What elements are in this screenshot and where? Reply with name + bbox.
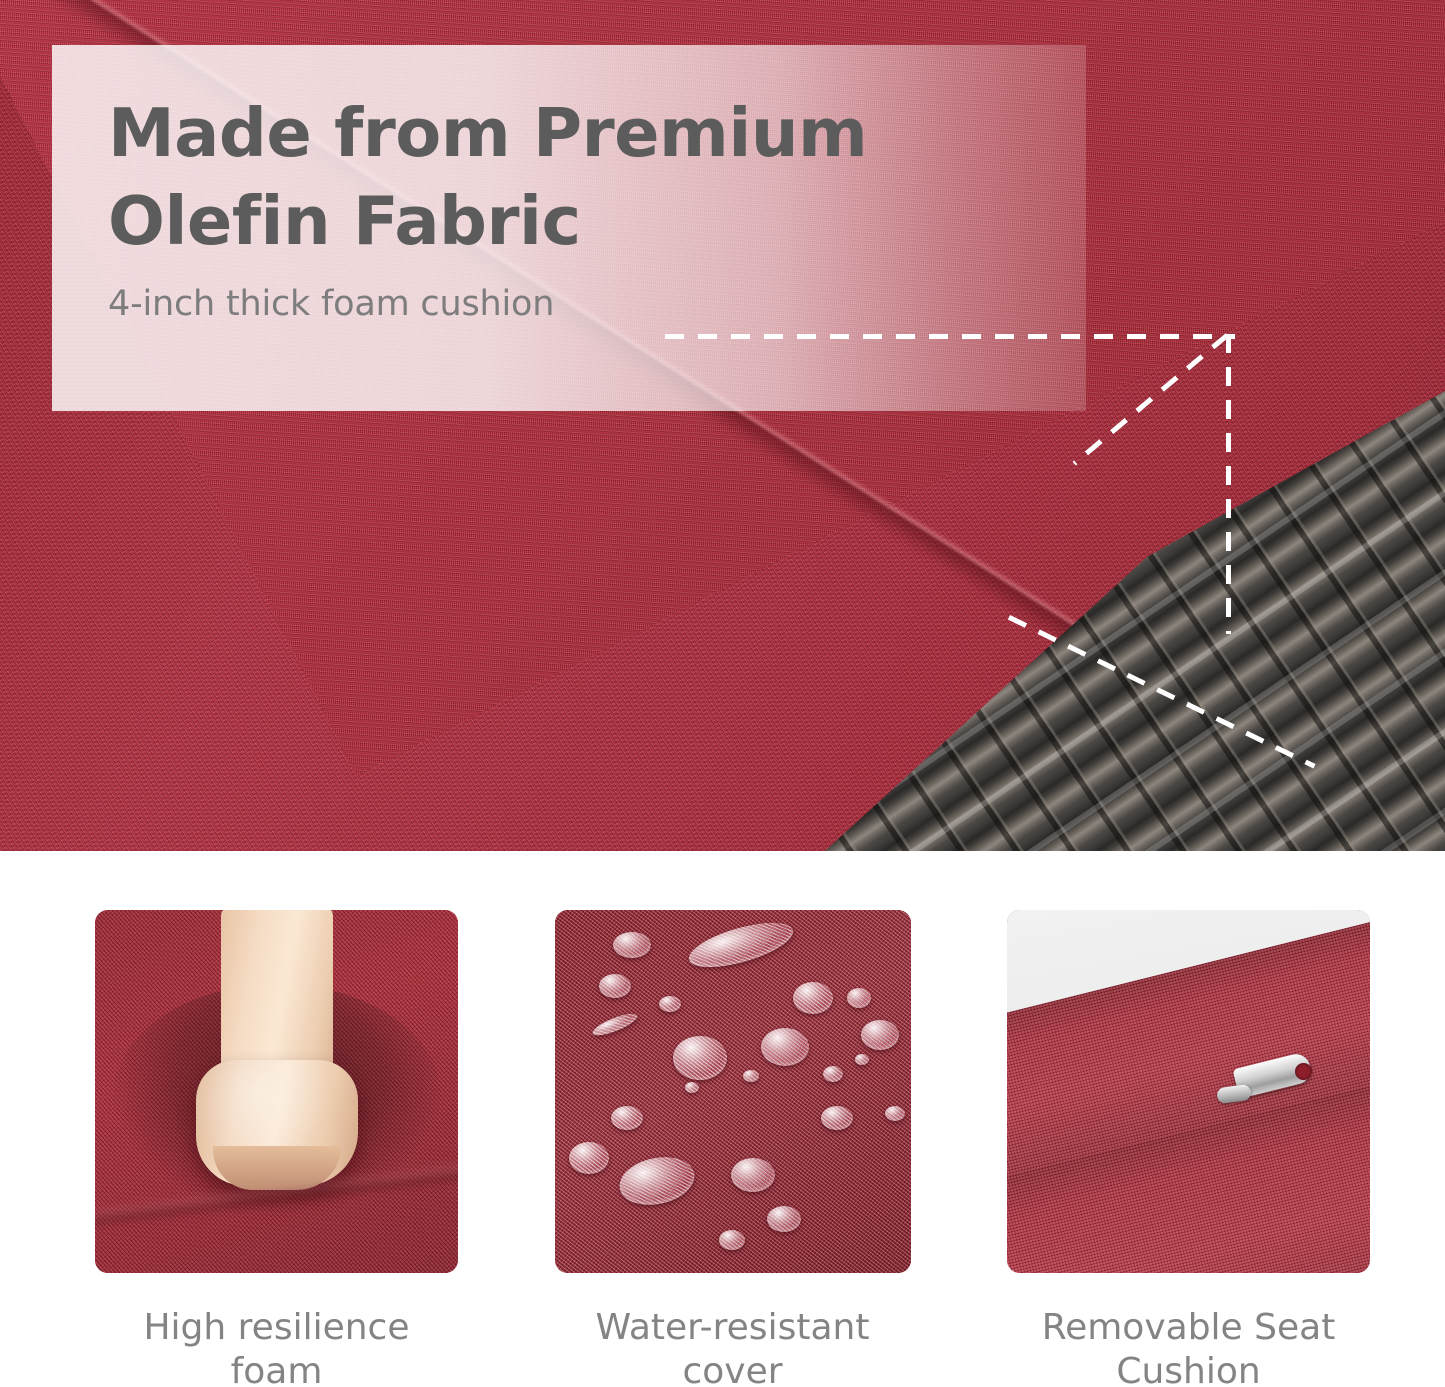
- feature-caption-line-2: foam: [231, 1351, 323, 1387]
- page-subtitle: 4-inch thick foam cushion: [108, 284, 1086, 324]
- water-droplet: [719, 1230, 745, 1250]
- headline-line-2: Olefin Fabric: [108, 185, 1086, 259]
- headline-line-1: Made from Premium: [108, 97, 1086, 171]
- water-droplet: [743, 1070, 759, 1082]
- water-droplet: [823, 1066, 843, 1082]
- fist-pressing-cushion-photo: [95, 910, 458, 1273]
- water-droplet: [599, 974, 631, 998]
- product-feature-infographic: Made from Premium Olefin Fabric 4-inch t…: [0, 0, 1445, 1387]
- page-title: Made from Premium Olefin Fabric: [108, 97, 1086, 258]
- feature-caption: Water-resistant cover: [555, 1306, 911, 1387]
- zipper-closure-photo: [1007, 910, 1370, 1273]
- feature-card-high-resilience-foam: High resilience foam: [95, 910, 458, 1387]
- water-droplet: [847, 988, 871, 1008]
- water-droplet: [613, 932, 651, 958]
- water-droplet: [861, 1020, 899, 1050]
- water-droplet: [673, 1036, 727, 1080]
- feature-card-water-resistant-cover: Water-resistant cover: [555, 910, 911, 1387]
- feature-section: High resilience foam: [0, 851, 1445, 1387]
- zipper-pull-hole: [1295, 1063, 1312, 1080]
- feature-card-list: High resilience foam: [95, 910, 1370, 1387]
- water-droplet: [767, 1206, 801, 1232]
- feature-caption: Removable Seat Cushion: [1007, 1306, 1370, 1387]
- feature-caption-line-2: Cushion: [1116, 1351, 1260, 1387]
- water-droplet: [569, 1142, 609, 1174]
- water-droplet: [885, 1106, 905, 1121]
- feature-caption-line-1: High resilience: [143, 1307, 409, 1348]
- water-droplet: [659, 996, 681, 1012]
- water-droplet: [855, 1054, 869, 1065]
- feature-caption-line-2: cover: [682, 1351, 782, 1387]
- water-droplet: [685, 1082, 699, 1093]
- water-droplet: [761, 1028, 809, 1066]
- water-droplet: [821, 1106, 853, 1130]
- feature-caption-line-1: Water-resistant: [596, 1307, 870, 1348]
- headline-panel: Made from Premium Olefin Fabric 4-inch t…: [52, 45, 1086, 411]
- water-droplet: [793, 982, 833, 1014]
- water-droplets-on-fabric-photo: [555, 910, 911, 1273]
- hero-image: Made from Premium Olefin Fabric 4-inch t…: [0, 0, 1445, 851]
- feature-caption: High resilience foam: [95, 1306, 458, 1387]
- feature-caption-line-1: Removable Seat: [1042, 1307, 1336, 1348]
- dashed-vertical-callout-icon: [1226, 334, 1231, 634]
- feature-card-removable-seat-cushion: Removable Seat Cushion: [1007, 910, 1370, 1387]
- water-droplet: [611, 1106, 643, 1130]
- water-droplet: [731, 1158, 775, 1192]
